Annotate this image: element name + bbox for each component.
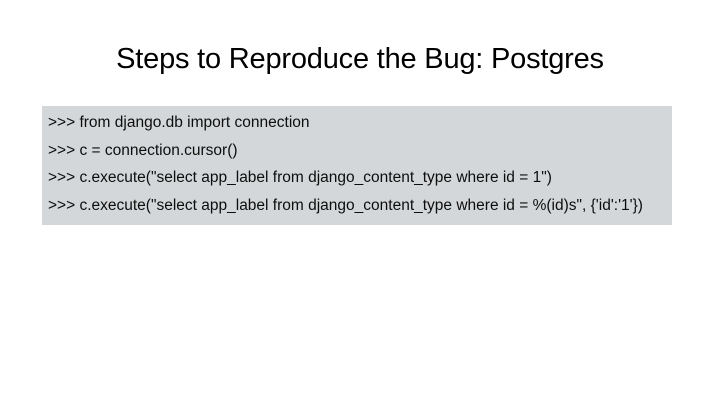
slide: Steps to Reproduce the Bug: Postgres >>>… xyxy=(0,0,720,405)
code-line: >>> c = connection.cursor() xyxy=(48,141,666,162)
code-line: >>> c.execute("select app_label from dja… xyxy=(48,196,666,217)
code-block: >>> from django.db import connection >>>… xyxy=(42,106,672,225)
code-line: >>> from django.db import connection xyxy=(48,113,666,134)
code-line: >>> c.execute("select app_label from dja… xyxy=(48,168,666,189)
page-title: Steps to Reproduce the Bug: Postgres xyxy=(0,43,720,76)
